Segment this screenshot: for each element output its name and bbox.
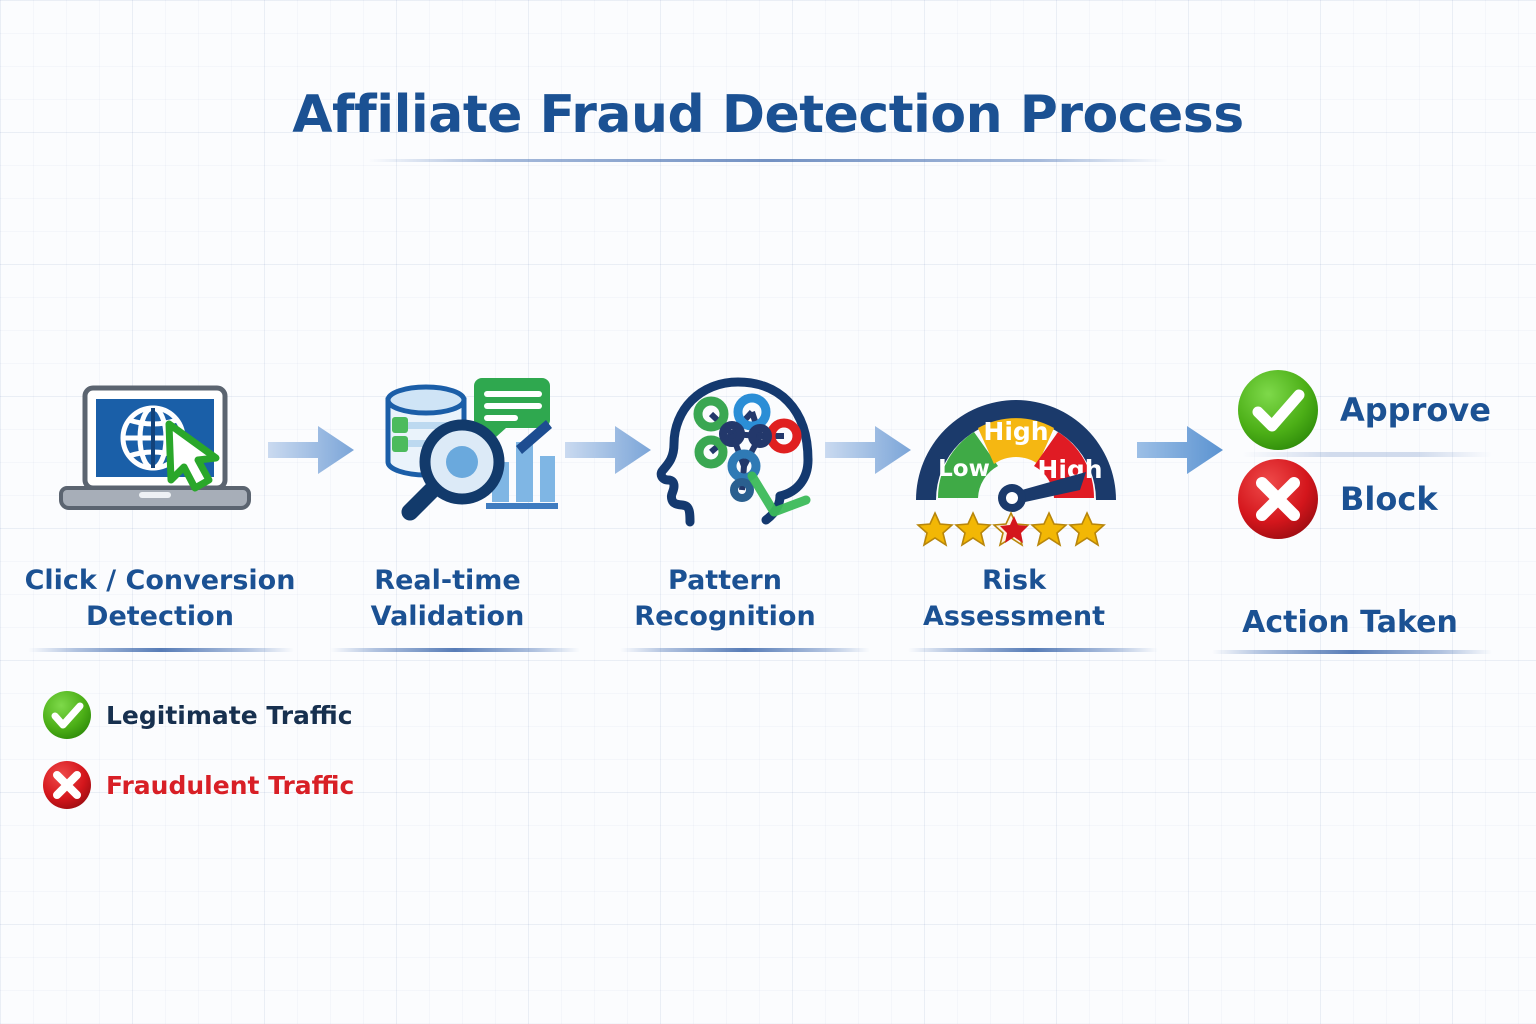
action-approve[interactable]: Approve [1236,368,1496,452]
step-underline-4 [908,648,1158,652]
legend-item-fraudulent-traffic: Fraudulent Traffic [42,750,354,820]
database-magnifier-chart-icon [366,370,566,530]
legend-label-legitimate-traffic: Legitimate Traffic [106,701,353,730]
step-label-line-2: Assessment [910,599,1118,635]
step-label-real-time-validation: Real-time Validation [330,563,565,634]
right-arrow-icon [1137,424,1223,476]
rating-stars [918,513,1104,545]
step-label-action-taken: Action Taken [1205,603,1495,643]
step-label-line-1: Risk [910,563,1118,599]
x-circle-icon [1236,457,1320,541]
step-label-line-1: Pattern [620,563,830,599]
check-circle-icon [1236,368,1320,452]
step-label-line-2: Validation [330,599,565,635]
flow-arrow-2 [560,360,655,540]
risk-gauge-icon: Low High High [908,368,1123,533]
step-icon-risk-assessment: Low High High [908,360,1123,540]
title-underline [368,159,1168,162]
x-circle-icon [42,760,92,810]
step-underline-3 [620,648,870,652]
gauge-label-low: Low [938,456,990,482]
step-label-line-1: Click / Conversion [20,563,300,599]
step-label-risk-assessment: Risk Assessment [910,563,1118,634]
step-label-pattern-recognition: Pattern Recognition [620,563,830,634]
legend-item-legitimate-traffic: Legitimate Traffic [42,680,354,750]
step-icon-click-conversion-detection [48,360,263,540]
step-label-line-1: Action Taken [1205,603,1495,643]
action-taken-group: Approve Block [1236,368,1496,541]
action-block-label: Block [1340,480,1438,518]
right-arrow-icon [268,424,354,476]
step-icon-pattern-recognition [648,360,848,540]
step-icon-real-time-validation [358,360,573,540]
step-label-line-2: Recognition [620,599,830,635]
right-arrow-icon [825,424,911,476]
step-label-line-1: Real-time [330,563,565,599]
legend-label-fraudulent-traffic: Fraudulent Traffic [106,771,354,800]
right-arrow-icon [565,424,651,476]
legend: Legitimate Traffic Fraudulent Traffic [42,680,354,820]
step-label-click-conversion-detection: Click / Conversion Detection [20,563,300,634]
action-block[interactable]: Block [1236,457,1496,541]
title-block: Affiliate Fraud Detection Process [0,88,1536,162]
step-label-line-2: Detection [20,599,300,635]
check-circle-icon [42,690,92,740]
page-title: Affiliate Fraud Detection Process [0,88,1536,143]
head-neural-network-icon [656,370,841,530]
flow-arrow-3 [820,360,915,540]
gauge-label-mid: High [983,417,1048,446]
step-underline-2 [330,648,580,652]
action-approve-label: Approve [1340,391,1491,429]
flow-arrow-4 [1130,360,1230,540]
step-underline-5 [1212,650,1492,654]
flow-arrow-1 [263,360,358,540]
laptop-globe-cursor-icon [53,380,258,520]
step-underline-1 [28,648,294,652]
